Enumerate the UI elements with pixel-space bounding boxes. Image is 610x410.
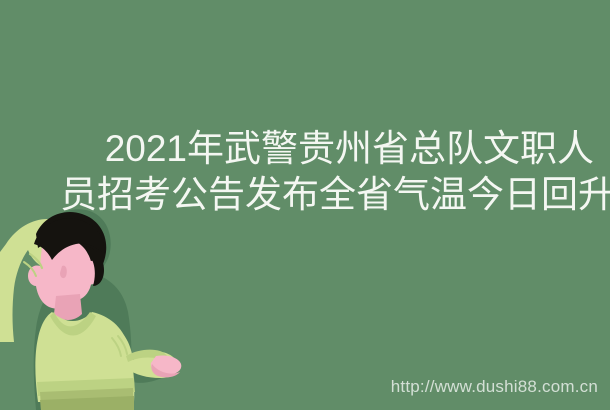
news-banner-image: 2021年武警贵州省总队文职人 员招考公告发布全省气温今日回升 http://w… xyxy=(0,0,610,410)
person-illustration xyxy=(0,196,200,410)
person-illustration-svg xyxy=(0,196,200,410)
neck xyxy=(54,294,82,320)
watermark-url: http://www.dushi88.com.cn xyxy=(391,377,598,397)
